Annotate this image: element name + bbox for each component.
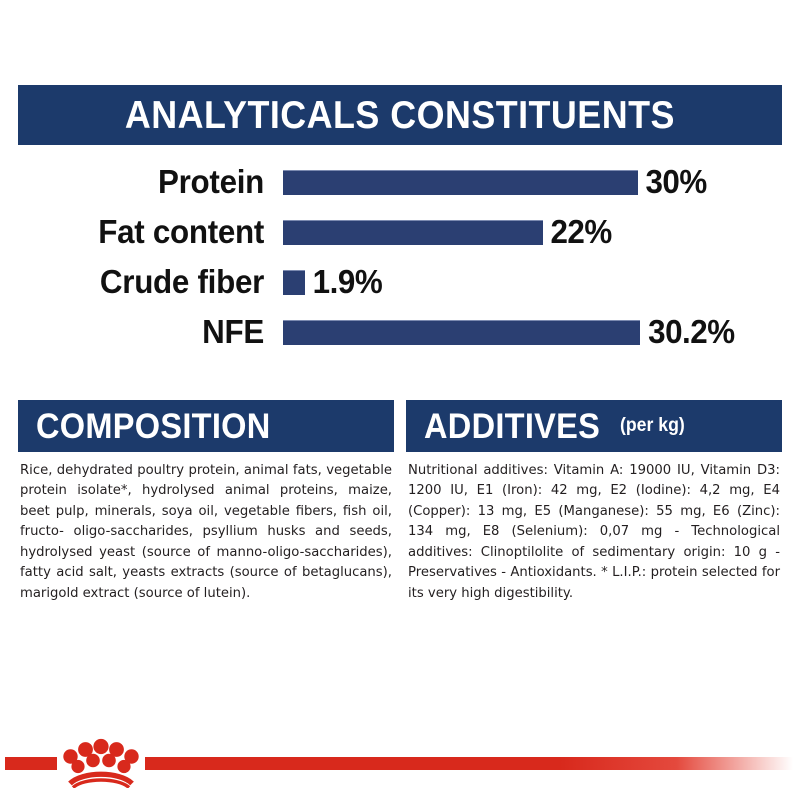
info-panels-row: COMPOSITION Rice, dehydrated poultry pro… (18, 400, 782, 604)
analyticals-header-title: ANALYTICALS CONSTITUENTS (125, 96, 675, 135)
brand-rule-right (145, 757, 793, 770)
chart-row: NFE 30.2% (18, 310, 782, 354)
chart-bar-value: 22% (545, 213, 612, 251)
additives-header-band: ADDITIVES (per kg) (406, 400, 782, 452)
chart-bar-value: 30% (640, 163, 707, 201)
composition-header-title: COMPOSITION (36, 409, 271, 444)
chart-row: Crude fiber 1.9% (18, 260, 782, 304)
chart-bar-value: 1.9% (307, 263, 382, 301)
composition-panel: COMPOSITION Rice, dehydrated poultry pro… (18, 400, 394, 604)
chart-bar-nfe (283, 320, 640, 345)
chart-row: Fat content 22% (18, 210, 782, 254)
additives-header-title: ADDITIVES (424, 409, 600, 444)
chart-bar-track: 30% (283, 160, 782, 204)
chart-bar-protein (283, 170, 638, 195)
chart-bar-label: NFE (25, 313, 277, 351)
brand-rule-left (5, 757, 57, 770)
chart-bar-track: 1.9% (283, 260, 782, 304)
chart-bar-crude-fiber (283, 270, 305, 295)
additives-panel: ADDITIVES (per kg) Nutritional additives… (406, 400, 782, 604)
composition-body-text: Rice, dehydrated poultry protein, animal… (18, 452, 394, 604)
composition-header-band: COMPOSITION (18, 400, 394, 452)
analyticals-constituents-panel: ANALYTICALS CONSTITUENTS (18, 85, 782, 145)
chart-bar-track: 30.2% (283, 310, 782, 354)
additives-body-text: Nutritional additives: Vitamin A: 19000 … (406, 452, 782, 604)
nutrient-bar-chart: Protein 30% Fat content 22% Crude fiber … (18, 160, 782, 365)
brand-footer (0, 744, 800, 800)
chart-row: Protein 30% (18, 160, 782, 204)
chart-bar-label: Fat content (25, 213, 277, 251)
additives-header-subtitle: (per kg) (620, 415, 685, 437)
chart-bar-label: Crude fiber (25, 263, 277, 301)
chart-bar-fat-content (283, 220, 543, 245)
analyticals-header-band: ANALYTICALS CONSTITUENTS (18, 85, 782, 145)
chart-bar-value: 30.2% (642, 313, 734, 351)
royal-canin-crown-logo (58, 728, 144, 788)
chart-bar-track: 22% (283, 210, 782, 254)
chart-bar-label: Protein (25, 163, 277, 201)
